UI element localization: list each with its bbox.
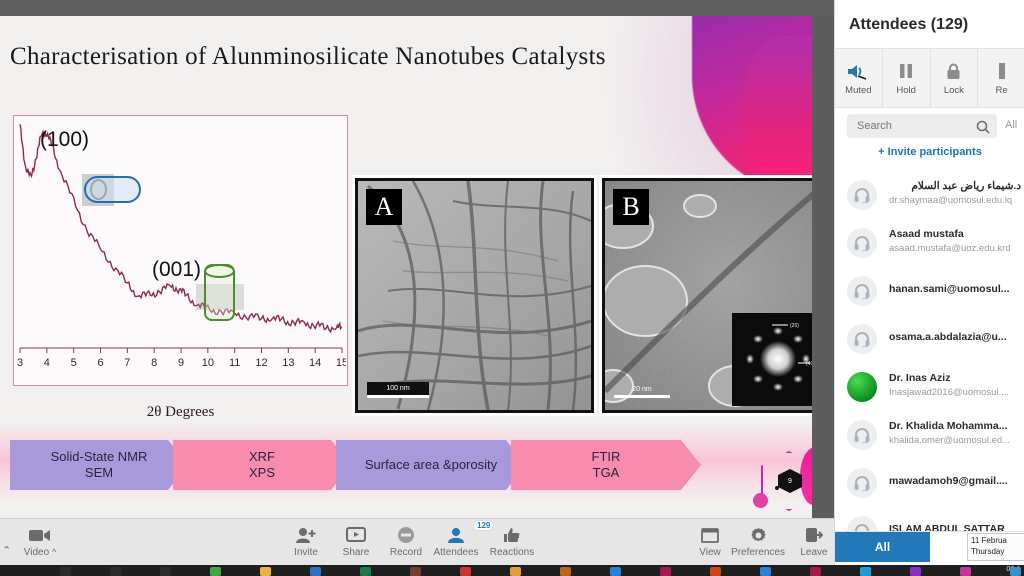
taskbar-app-icon[interactable] <box>560 567 571 576</box>
attendee-row[interactable]: د.شيماء رياض عبد السلامdr.shaymaa@uomosu… <box>835 172 1024 220</box>
date-tooltip: 11 Februa Thursday <box>967 533 1024 561</box>
attendees-action-hold-label: Hold <box>896 85 916 96</box>
tem-panel-b-scalebar: 20 nm <box>614 383 670 398</box>
toolbar-record-label: Record <box>390 547 422 558</box>
record-icon <box>397 524 415 546</box>
hexagon-dot-large <box>753 493 768 508</box>
taskbar-app-icon[interactable] <box>810 567 821 576</box>
attendees-action-muted-label: Muted <box>845 85 871 96</box>
attendee-name: hanan.sami@uomosul... <box>889 283 1019 295</box>
svg-text:15: 15 <box>336 357 346 369</box>
attendees-action-hold[interactable]: Hold <box>883 49 931 107</box>
toolbar-share-label: Share <box>343 547 370 558</box>
taskbar-app-icon[interactable] <box>960 567 971 576</box>
slide-title: Characterisation of Alunminosilicate Nan… <box>10 43 730 71</box>
attendees-panel: Attendees (129) Muted Hold Lock Re <box>834 0 1024 565</box>
process-flow: Solid-State NMRSEM XRFXPS Surface area &… <box>0 422 812 508</box>
stage-top-band <box>0 0 834 16</box>
taskbar-app-icon[interactable] <box>660 567 671 576</box>
headset-icon <box>847 228 877 258</box>
toolbar-view-label: View <box>699 547 721 558</box>
tem-panel-a: A 100 nm <box>355 178 594 413</box>
exit-icon <box>805 524 823 546</box>
attendees-list[interactable]: د.شيماء رياض عبد السلامdr.shaymaa@uomosu… <box>835 172 1024 532</box>
svg-text:7: 7 <box>124 357 130 369</box>
diffraction-label-1: (20) <box>790 323 799 329</box>
attendees-action-muted[interactable]: Muted <box>835 49 883 107</box>
toolbar-share-button[interactable]: Share <box>328 524 384 564</box>
taskbar-app-icon[interactable] <box>310 567 321 576</box>
attendee-name: د.شيماء رياض عبد السلام <box>891 180 1021 192</box>
hexagon-dot-small <box>775 486 779 490</box>
taskbar-app-icon[interactable] <box>210 567 221 576</box>
search-icon[interactable] <box>976 120 990 139</box>
process-step-3[interactable]: Surface area &porosity <box>336 440 526 490</box>
xrd-x-axis-title: 2θ Degrees <box>13 404 348 421</box>
svg-text:8: 8 <box>151 357 157 369</box>
toolbar-attendees-button[interactable]: 129 Attendees <box>428 524 484 564</box>
headset-icon <box>847 276 877 306</box>
attendee-name: osama.a.abdalazia@u... <box>889 331 1019 343</box>
presentation-slide[interactable]: Characterisation of Alunminosilicate Nan… <box>0 16 812 518</box>
attendee-email: Inasjawad2016@uomosul.... <box>889 387 1021 398</box>
toolbar-preferences-label: Preferences <box>731 547 785 558</box>
attendees-action-lock-label: Lock <box>944 85 964 96</box>
tem-panel-b-tag: B <box>613 189 649 225</box>
svg-text:4: 4 <box>44 357 50 369</box>
attendee-row[interactable]: hanan.sami@uomosul... <box>835 268 1024 316</box>
toolbar-invite-label: Invite <box>294 547 318 558</box>
toolbar-video-label: Video ^ <box>24 547 56 558</box>
toolbar-preferences-button[interactable]: Preferences <box>730 524 786 564</box>
xrd-x-ticks: 3456789101112131415 <box>17 348 346 369</box>
taskbar-app-icon[interactable] <box>110 567 121 576</box>
toolbar-record-button[interactable]: Record <box>378 524 434 564</box>
taskbar-app-icon[interactable] <box>710 567 721 576</box>
muted-speaker-icon <box>847 60 869 82</box>
slide-decor-blob-secondary <box>742 36 812 186</box>
attendee-row[interactable]: osama.a.abdalazia@u... <box>835 316 1024 364</box>
taskbar-app-icon[interactable] <box>460 567 471 576</box>
headset-icon <box>847 516 877 532</box>
record-icon <box>995 60 1009 82</box>
tem-panel-b: B 20 nm <box>602 178 812 413</box>
attendees-action-record-label: Re <box>996 85 1008 96</box>
xrd-chart: 3456789101112131415 (100) (001) <box>13 115 348 386</box>
attendee-name: Dr. Inas Aziz <box>889 372 1019 384</box>
attendee-row[interactable]: mawadamoh9@gmail.... <box>835 460 1024 508</box>
toolbar-reactions-button[interactable]: Reactions <box>484 524 540 564</box>
taskbar-app-icon[interactable] <box>60 567 71 576</box>
tem-panel-b-diffraction-inset: (20) (40) <box>732 313 812 406</box>
xrd-annotation-capsule-ellipse <box>90 179 107 200</box>
attendee-name: mawadamoh9@gmail.... <box>889 475 1019 487</box>
toolbar-attendees-label: Attendees <box>433 547 478 558</box>
invite-participants-label: Invite participants <box>888 146 982 158</box>
attendees-action-record[interactable]: Re <box>978 49 1024 107</box>
taskbar-app-icon[interactable] <box>360 567 371 576</box>
tab-all[interactable]: All <box>835 532 930 562</box>
lock-icon <box>946 60 961 82</box>
meeting-toolbar: ⌃ Video ^ Invite Share Record <box>0 518 834 565</box>
tem-panel-a-tag: A <box>366 189 402 225</box>
process-step-2[interactable]: XRFXPS <box>173 440 351 490</box>
attendees-action-lock[interactable]: Lock <box>931 49 979 107</box>
xrd-annotation-cylinder-top <box>204 264 235 278</box>
attendee-email: asaad.mustafa@uoz.edu.krd <box>889 243 1021 254</box>
taskbar-app-icon[interactable] <box>860 567 871 576</box>
plus-icon: + <box>878 146 884 158</box>
attendees-icon: 129 <box>447 524 465 546</box>
taskbar-app-icon[interactable] <box>410 567 421 576</box>
toolbar-video-button[interactable]: Video ^ <box>12 524 68 564</box>
attendee-email: dr.shaymaa@uomosul.edu.lq <box>889 195 1021 206</box>
attendee-name: Dr. Khalida Mohamma... <box>889 420 1019 432</box>
attendees-action-bar: Muted Hold Lock Re <box>835 48 1024 108</box>
xrd-peak-label-001: (001) <box>152 258 201 282</box>
attendee-name: Asaad mustafa <box>889 228 1019 240</box>
svg-text:9: 9 <box>178 357 184 369</box>
attendee-row[interactable]: ISLAM ABDUL SATTAR <box>835 508 1024 532</box>
svg-text:10: 10 <box>202 357 214 369</box>
slide-decor-hexagon: 9 <box>745 441 812 518</box>
headset-icon <box>847 420 877 450</box>
screen-share-icon <box>346 524 366 546</box>
process-step-4[interactable]: FTIRTGA <box>511 440 701 490</box>
thumbs-up-icon <box>503 524 521 546</box>
gear-icon <box>750 524 767 546</box>
search-input[interactable] <box>847 114 997 138</box>
attendee-row[interactable]: Asaad mustafaasaad.mustafa@uoz.edu.krd <box>835 220 1024 268</box>
taskbar-app-icon[interactable] <box>260 567 271 576</box>
tooltip-date: 11 Februa <box>971 536 1023 547</box>
avatar <box>847 372 877 402</box>
attendee-row[interactable]: Dr. Khalida Mohamma...khalida.omer@uomos… <box>835 412 1024 460</box>
svg-text:6: 6 <box>97 357 103 369</box>
taskbar-app-icon[interactable] <box>510 567 521 576</box>
xrd-plot-svg: 3456789101112131415 <box>14 116 346 384</box>
headset-icon <box>847 180 877 210</box>
headset-icon <box>847 468 877 498</box>
toolbar-reactions-label: Reactions <box>490 547 534 558</box>
person-plus-icon <box>296 524 316 546</box>
diffraction-pattern: (20) (40) <box>732 313 812 406</box>
pause-icon <box>898 60 914 82</box>
headset-icon <box>847 324 877 354</box>
svg-text:5: 5 <box>71 357 77 369</box>
taskbar-app-icon[interactable] <box>1010 567 1021 576</box>
taskbar-app-icon[interactable] <box>760 567 771 576</box>
svg-text:13: 13 <box>282 357 294 369</box>
toolbar-leave-label: Leave <box>800 547 827 558</box>
taskbar-app-icon[interactable] <box>910 567 921 576</box>
svg-text:11: 11 <box>229 357 240 369</box>
tooltip-weekday: Thursday <box>971 547 1023 558</box>
invite-participants-button[interactable]: + Invite participants <box>835 146 1024 158</box>
process-step-1[interactable]: Solid-State NMRSEM <box>10 440 188 490</box>
svg-text:3: 3 <box>17 357 23 369</box>
attendee-row[interactable]: Dr. Inas AzizInasjawad2016@uomosul.... <box>835 364 1024 412</box>
xrd-data-line <box>20 124 342 332</box>
attendees-panel-title: Attendees (129) <box>849 16 968 34</box>
attendees-all-link[interactable]: All <box>1005 119 1017 131</box>
svg-text:14: 14 <box>309 357 321 369</box>
taskbar-app-icon[interactable] <box>160 567 171 576</box>
toolbar-invite-button[interactable]: Invite <box>278 524 334 564</box>
meeting-stage: Characterisation of Alunminosilicate Nan… <box>0 0 834 518</box>
taskbar-app-icon[interactable] <box>610 567 621 576</box>
windows-taskbar[interactable]: 08:4 <box>0 565 1024 576</box>
tem-panel-a-scalebar: 100 nm <box>367 382 429 398</box>
toolbar-left-caret[interactable]: ⌃ <box>2 544 11 557</box>
svg-text:12: 12 <box>255 357 267 369</box>
layout-icon <box>701 524 719 546</box>
attendee-email: khalida.omer@uomosul.ed... <box>889 435 1021 446</box>
video-camera-icon <box>29 524 51 546</box>
diffraction-label-2: (40) <box>806 361 812 367</box>
attendees-search-row: All <box>835 112 1024 142</box>
